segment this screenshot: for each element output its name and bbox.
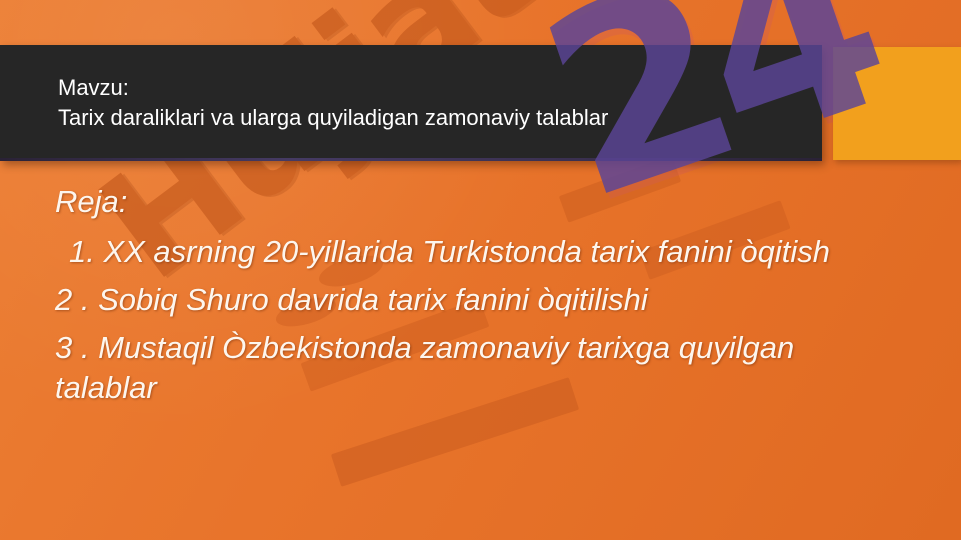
agenda-item-2: 2 . Sobiq Shuro davrida tarix fanini òqi… [55, 280, 845, 320]
title-line-2: Tarix daraliklari va ularga quyiladigan … [58, 103, 822, 133]
presentation-slide: Hujjat 24 Mavzu: Tarix daraliklari va ul… [0, 0, 961, 540]
agenda-heading: Reja: [55, 182, 845, 222]
title-bar: Mavzu: Tarix daraliklari va ularga quyil… [0, 45, 822, 161]
accent-block [833, 47, 961, 160]
agenda-item-3: 3 . Mustaqil Òzbekistonda zamonaviy tari… [55, 328, 845, 408]
agenda-item-1: 1. XX asrning 20-yillarida Turkistonda t… [55, 232, 845, 272]
title-line-1: Mavzu: [58, 73, 822, 103]
agenda-body: Reja: 1. XX asrning 20-yillarida Turkist… [55, 182, 845, 414]
